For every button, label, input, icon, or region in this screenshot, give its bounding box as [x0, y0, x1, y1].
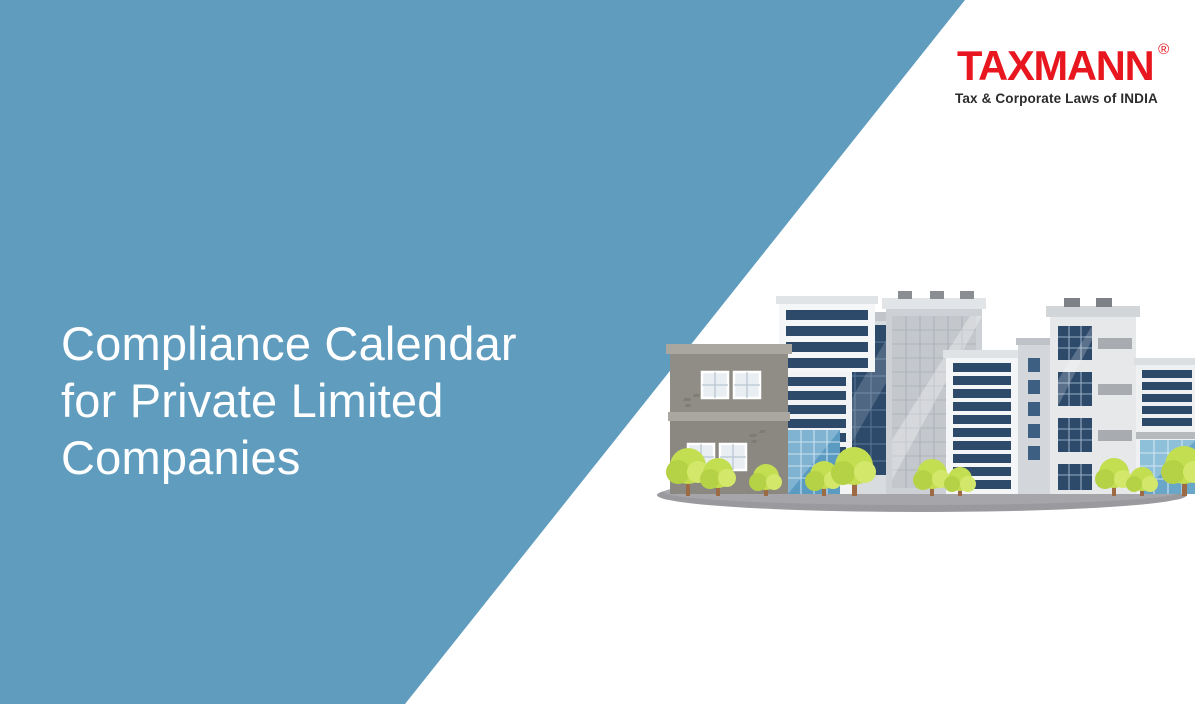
page-title: Compliance Calendar for Private Limited … [61, 315, 621, 486]
compliance-calendar-banner: Compliance Calendar for Private Limited … [0, 0, 1200, 704]
logo-wordmark-wrap: TAXMANN ® [956, 44, 1154, 88]
logo-tagline: Tax & Corporate Laws of INDIA [955, 91, 1155, 107]
building-striped-block-upper [776, 296, 878, 372]
building-service-column [1016, 338, 1054, 494]
registered-trademark-icon: ® [1158, 42, 1169, 57]
taxmann-logo[interactable]: TAXMANN ® Tax & Corporate Laws of INDIA [955, 44, 1155, 107]
city-office-buildings-illustration [650, 280, 1195, 515]
logo-wordmark-text: TAXMANN [957, 44, 1153, 88]
